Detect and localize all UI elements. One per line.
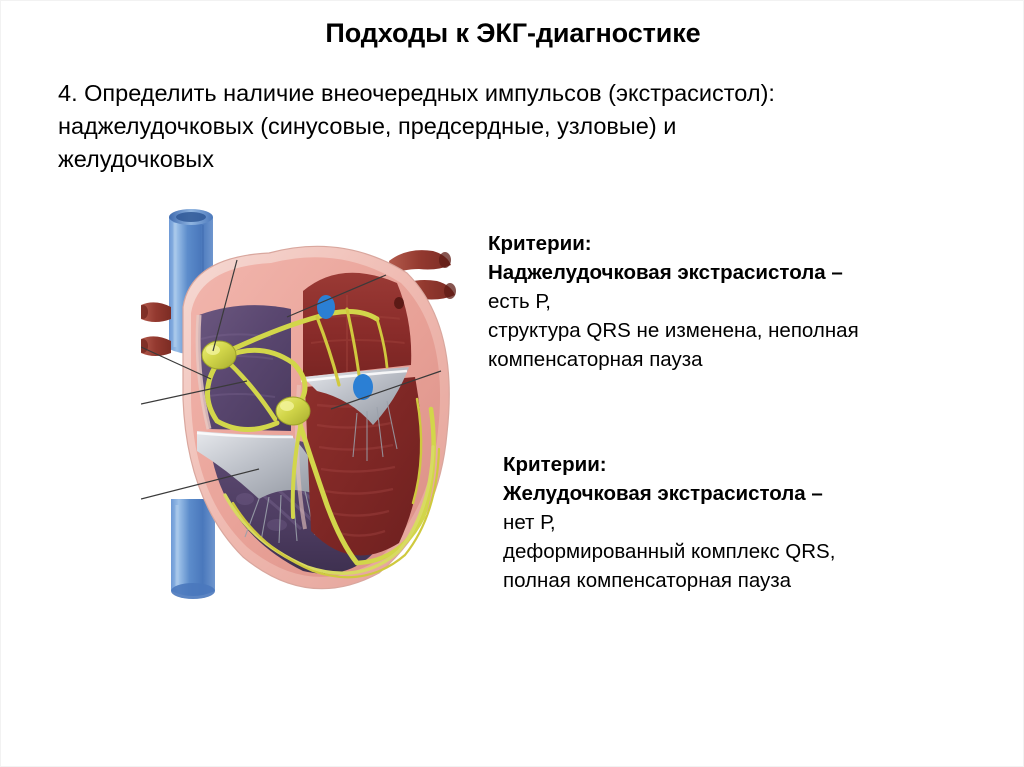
body-line-3: желудочковых [58, 143, 958, 176]
body-line-2: наджелудочковых (синусовые, предсердные,… [58, 110, 958, 143]
pulmonary-veins-right-icon [141, 302, 171, 356]
criteria-line-3: компенсаторная пауза [488, 345, 859, 374]
criteria-block-supraventricular: Критерии: Наджелудочковая экстрасистола … [488, 229, 859, 374]
criteria-line-2: деформированный комплекс QRS, [503, 537, 835, 566]
heart-diagram [141, 199, 471, 599]
criteria-line-2: структура QRS не изменена, неполная [488, 316, 859, 345]
blue-marker-atrium [317, 295, 335, 319]
atrioventricular-node-icon [276, 397, 310, 425]
sinoatrial-node-icon [202, 341, 236, 369]
criteria-header: Критерии: [488, 229, 859, 258]
body-paragraph: 4. Определить наличие внеочередных импул… [58, 77, 958, 176]
body-line-1: 4. Определить наличие внеочередных импул… [58, 77, 958, 110]
criteria-line-1: есть Р, [488, 287, 859, 316]
criteria-line-1: нет Р, [503, 508, 835, 537]
criteria-subject: Наджелудочковая экстрасистола – [488, 258, 859, 287]
inferior-vena-cava-icon [171, 499, 215, 599]
presentation-slide: Подходы к ЭКГ-диагностике 4. Определить … [0, 0, 1024, 767]
criteria-header: Критерии: [503, 450, 835, 479]
page-title: Подходы к ЭКГ-диагностике [1, 19, 1024, 49]
criteria-subject: Желудочковая экстрасистола – [503, 479, 835, 508]
criteria-line-3: полная компенсаторная пауза [503, 566, 835, 595]
criteria-block-ventricular: Критерии: Желудочковая экстрасистола – н… [503, 450, 835, 595]
